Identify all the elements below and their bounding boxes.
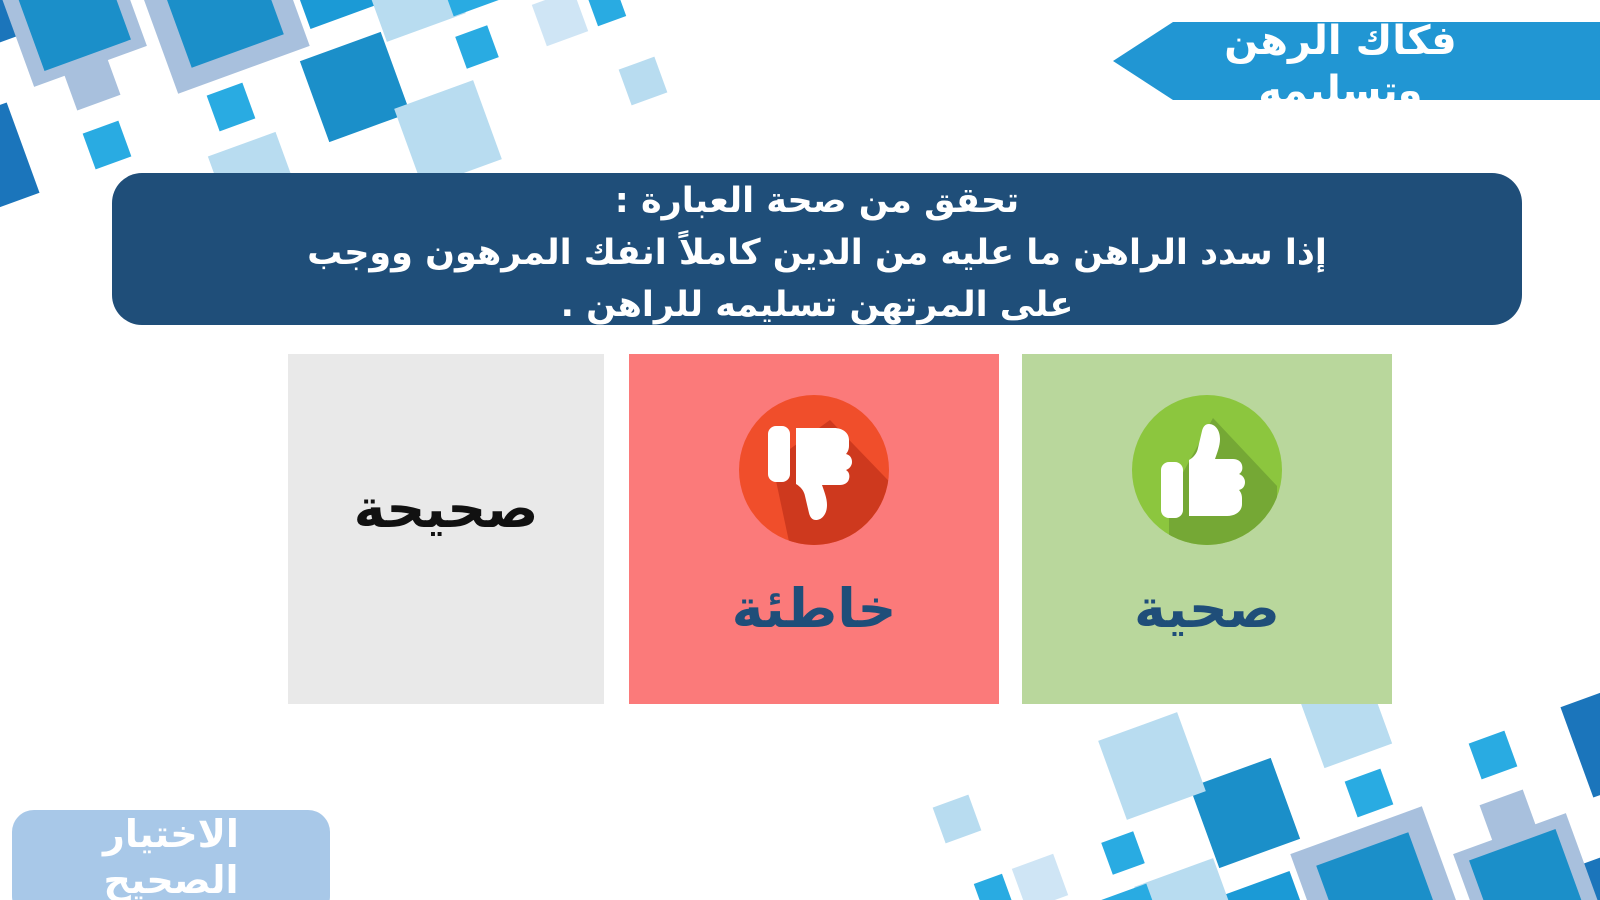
slide-title-text-block: فكاك الرهن وتسليمه — [1113, 22, 1568, 100]
deco-square — [1560, 674, 1600, 797]
deco-square — [279, 0, 397, 29]
answer-card-correct-label: صحية — [1134, 582, 1280, 636]
deco-square — [48, 0, 140, 6]
answer-card-plain[interactable]: صحيحة — [288, 354, 604, 704]
answer-options: صحيحة خاطئة — [288, 354, 1392, 704]
slide-title-banner: فكاك الرهن وتسليمه — [1113, 22, 1600, 100]
question-statement-line-1: إذا سدد الراهن ما عليه من الدين كاملاً ا… — [112, 236, 1522, 271]
footer-banner-line-2: الصحيح — [12, 858, 330, 900]
deco-square — [455, 25, 499, 69]
deco-square — [1469, 731, 1518, 780]
thumbs-down-icon — [734, 390, 894, 550]
deco-square — [974, 874, 1012, 900]
answer-card-plain-label: صحيحة — [354, 482, 539, 536]
deco-square — [300, 32, 410, 142]
deco-square — [1203, 871, 1321, 900]
deco-square — [83, 121, 132, 170]
deco-square — [933, 795, 982, 844]
footer-banner: الاختيار الصحيح — [12, 810, 330, 900]
deco-square — [0, 102, 40, 225]
answer-card-incorrect[interactable]: خاطئة — [629, 354, 999, 704]
deco-square — [394, 80, 502, 188]
deco-square — [1134, 858, 1242, 900]
slide-canvas: فكاك الرهن وتسليمه تحقق من صحة العبارة :… — [0, 0, 1600, 900]
slide-title-line-1: فكاك الرهن — [1113, 22, 1568, 66]
question-statement-line-2: على المرتهن تسليمه للراهن . — [112, 288, 1522, 323]
deco-square — [358, 0, 466, 42]
deco-square — [424, 0, 537, 16]
deco-square — [619, 57, 668, 106]
answer-card-correct[interactable]: صحية — [1022, 354, 1392, 704]
deco-square — [1290, 806, 1469, 900]
deco-square — [532, 0, 588, 46]
deco-square — [1460, 894, 1552, 900]
question-prompt: تحقق من صحة العبارة : — [112, 184, 1522, 219]
deco-square — [1064, 884, 1177, 900]
deco-square — [158, 0, 284, 68]
question-box: تحقق من صحة العبارة : إذا سدد الراهن ما … — [112, 173, 1522, 325]
deco-square — [588, 0, 626, 26]
slide-title-line-2: وتسليمه — [1113, 66, 1568, 100]
footer-banner-line-1: الاختيار — [12, 812, 330, 858]
deco-square — [130, 0, 309, 94]
answer-card-incorrect-label: خاطئة — [732, 582, 897, 636]
footer-banner-text-block: الاختيار الصحيح — [12, 812, 330, 900]
deco-square — [13, 0, 131, 71]
thumbs-up-icon — [1127, 390, 1287, 550]
deco-square — [1012, 854, 1068, 900]
deco-square — [1345, 769, 1394, 818]
deco-square — [1540, 846, 1600, 900]
deco-square — [62, 52, 121, 111]
deco-square — [1190, 758, 1300, 868]
deco-square — [1101, 831, 1145, 875]
deco-square — [0, 0, 147, 87]
deco-square — [207, 83, 256, 132]
deco-square — [1469, 829, 1587, 900]
deco-square — [1480, 790, 1539, 849]
deco-square — [0, 0, 60, 54]
deco-square — [1453, 813, 1600, 900]
deco-square — [1098, 712, 1206, 820]
deco-square — [1316, 832, 1442, 900]
